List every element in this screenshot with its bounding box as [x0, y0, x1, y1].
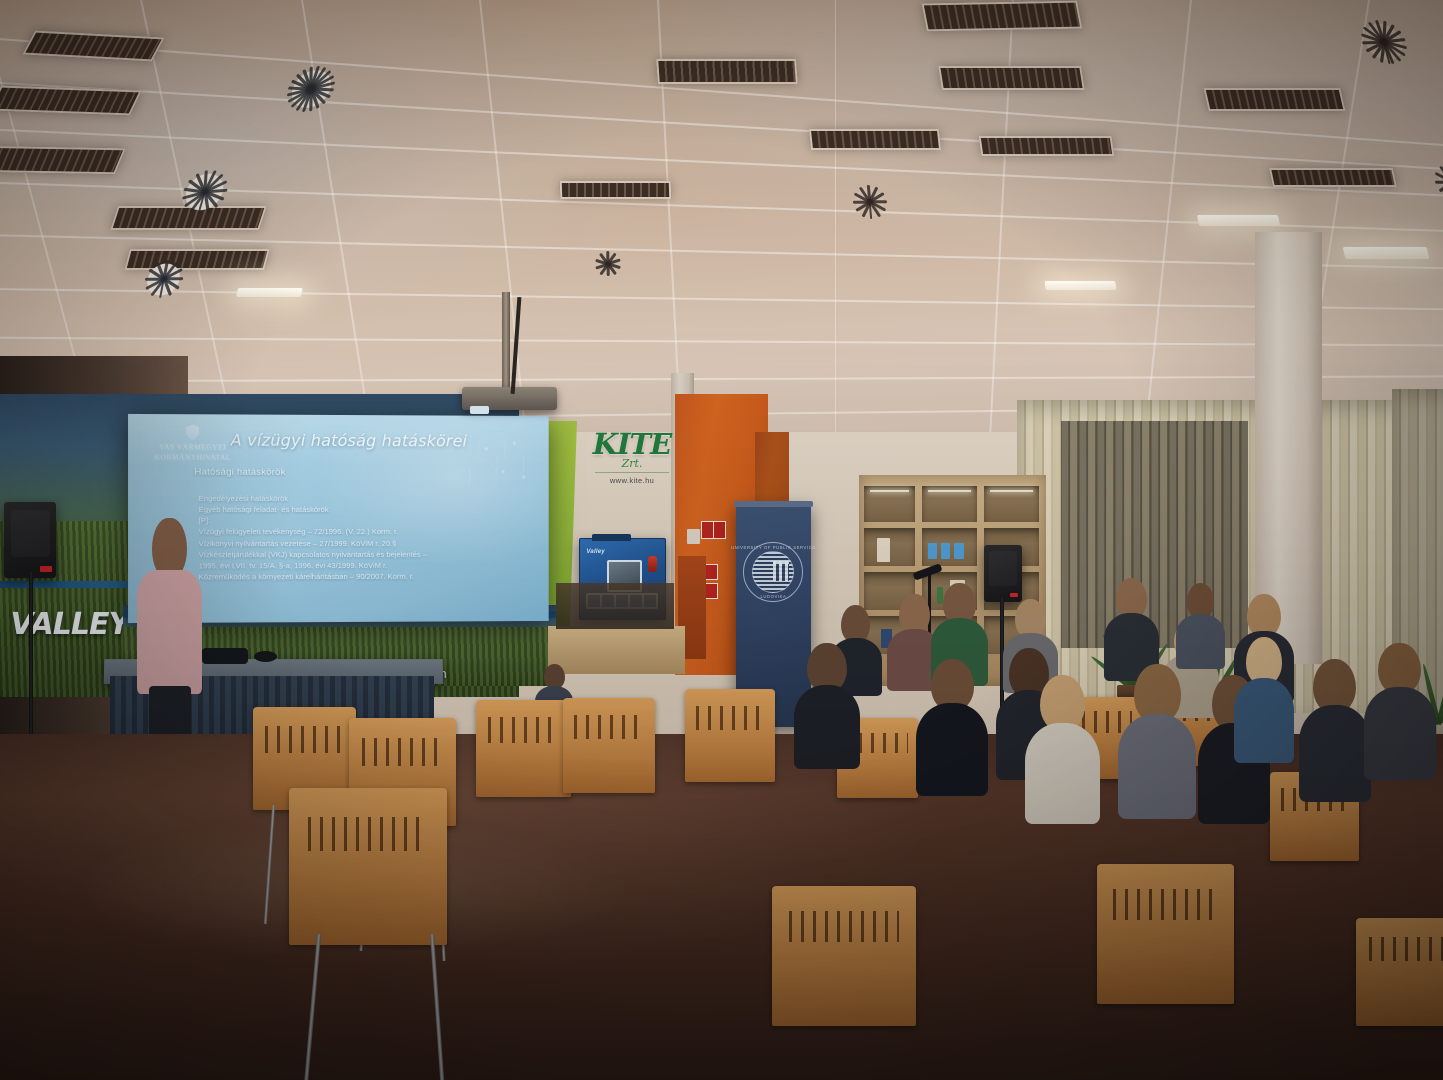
kite-url-text: www.kite.hu	[580, 476, 684, 485]
audience-member	[1176, 583, 1225, 664]
banner-seal-emblem: UNIVERSITY OF PUBLIC SERVICE LUDOVIKA	[743, 542, 803, 602]
chair[interactable]	[289, 788, 448, 945]
air-diffuser-icon	[568, 249, 649, 277]
slide-decoration	[466, 428, 532, 498]
chair[interactable]	[772, 886, 916, 1026]
slide-bullet: Vízkészletjárulékkal (VKJ) kapcsolatos n…	[199, 548, 525, 560]
slide-bullet: 1995. évi LVII. tv. 15/A. §-a, 1996. évi…	[199, 560, 525, 572]
panel-hood	[592, 534, 631, 541]
slide-bullet: Engedélyezési hatáskörök	[199, 492, 525, 504]
pa-speaker-right	[984, 545, 1022, 601]
ceiling-light-troffer	[938, 66, 1085, 90]
chair[interactable]	[563, 698, 655, 793]
kite-wall-sign: KITE Zrt. www.kite.hu	[580, 430, 684, 485]
shelf-item	[928, 543, 937, 560]
fire-equipment-sign	[701, 521, 725, 539]
seal-top-text: UNIVERSITY OF PUBLIC SERVICE	[731, 545, 816, 550]
slide-bullet: [P]:	[199, 515, 525, 526]
slide-bullet: Vízügyi felügyeleti tevékenység – 72/199…	[199, 526, 525, 537]
shelf-item	[877, 538, 890, 561]
chair[interactable]	[685, 689, 774, 782]
panel-emergency-knob[interactable]	[648, 556, 657, 572]
ceiling-led-panel	[1342, 247, 1429, 259]
audience-member	[1234, 637, 1295, 756]
slide-bullet: Egyéb hatósági feladat- és hatáskörök	[199, 504, 525, 515]
air-diffuser-icon	[103, 259, 224, 300]
kite-logo-rule	[595, 472, 670, 473]
slide-org-line2: KORMÁNYHIVATAL	[143, 452, 241, 462]
slide-bullet: Közreműködés a környezeti kárelhárításba…	[199, 571, 525, 583]
audience-member	[916, 659, 988, 789]
ceiling-light-troffer	[0, 146, 126, 174]
air-diffuser-icon	[134, 166, 276, 218]
kite-logo-text: KITE	[580, 430, 684, 459]
slide-title: A vízügyi hatóság hatáskörei	[230, 430, 467, 450]
audience-member	[1364, 643, 1436, 773]
air-diffuser-icon	[237, 60, 384, 117]
ceiling-light-troffer	[656, 59, 797, 84]
ceiling-light-troffer	[560, 181, 671, 199]
speaker-brand-mark	[40, 566, 52, 572]
air-diffuser-icon	[817, 184, 924, 220]
audience-member	[1025, 675, 1100, 815]
slide-org-line1: VAS VÁRMEGYEI	[143, 442, 241, 452]
audience-member	[1118, 664, 1196, 810]
audience-member	[794, 643, 860, 762]
ceiling-light-troffer	[0, 86, 142, 116]
audience-member	[1299, 659, 1371, 794]
ceiling-light-troffer	[1269, 168, 1397, 187]
slide-subheading: Hatósági hatáskörök	[194, 466, 285, 477]
ceiling-grid-line	[835, 0, 837, 454]
air-diffuser-icon	[1396, 163, 1443, 201]
audience-member	[1104, 578, 1159, 675]
light-switch[interactable]	[687, 529, 700, 544]
presenter-torso	[137, 570, 202, 694]
seal-crest-icon	[752, 551, 794, 593]
chair[interactable]	[1097, 864, 1234, 1004]
coat-of-arms-icon	[186, 424, 199, 440]
shelf-item	[941, 543, 950, 560]
slide-bullet: Vízikönyvi nyilvántartás vezetése – 27/1…	[199, 537, 525, 549]
laptop-on-table[interactable]	[202, 648, 248, 664]
ceiling-light-troffer	[979, 136, 1115, 156]
conference-room-photo: VALLEY valleyirrigation.com VAS VÁRMEGYE…	[0, 0, 1443, 1080]
cable-coil	[254, 651, 277, 662]
projector-mount-pole	[502, 292, 510, 394]
shelf-item	[954, 543, 963, 560]
counter-recess	[556, 583, 674, 628]
ceiling-light-troffer	[1204, 88, 1346, 111]
ceiling-led-panel	[1044, 281, 1116, 290]
slide-bullet-list: Engedélyezési hatáskörök Egyéb hatósági …	[199, 492, 525, 582]
slide-org-logo: VAS VÁRMEGYEI KORMÁNYHIVATAL	[143, 424, 241, 461]
pa-speaker-left	[4, 502, 56, 578]
banner-top-rail	[734, 501, 814, 507]
ceiling-led-panel	[1197, 215, 1280, 226]
ceiling-led-panel	[236, 288, 302, 297]
projector-lens	[470, 406, 489, 414]
seal-bottom-text: LUDOVIKA	[760, 594, 786, 599]
panel-brand-text: Valley	[586, 549, 604, 555]
speaker-brand-mark	[1010, 593, 1018, 597]
presenter-head	[152, 518, 187, 577]
chair[interactable]	[1356, 918, 1443, 1026]
ceiling	[0, 0, 1443, 454]
ceiling-light-troffer	[921, 1, 1082, 32]
ceiling-light-troffer	[809, 129, 941, 150]
chair[interactable]	[476, 700, 571, 797]
air-diffuser-icon	[1313, 18, 1443, 66]
